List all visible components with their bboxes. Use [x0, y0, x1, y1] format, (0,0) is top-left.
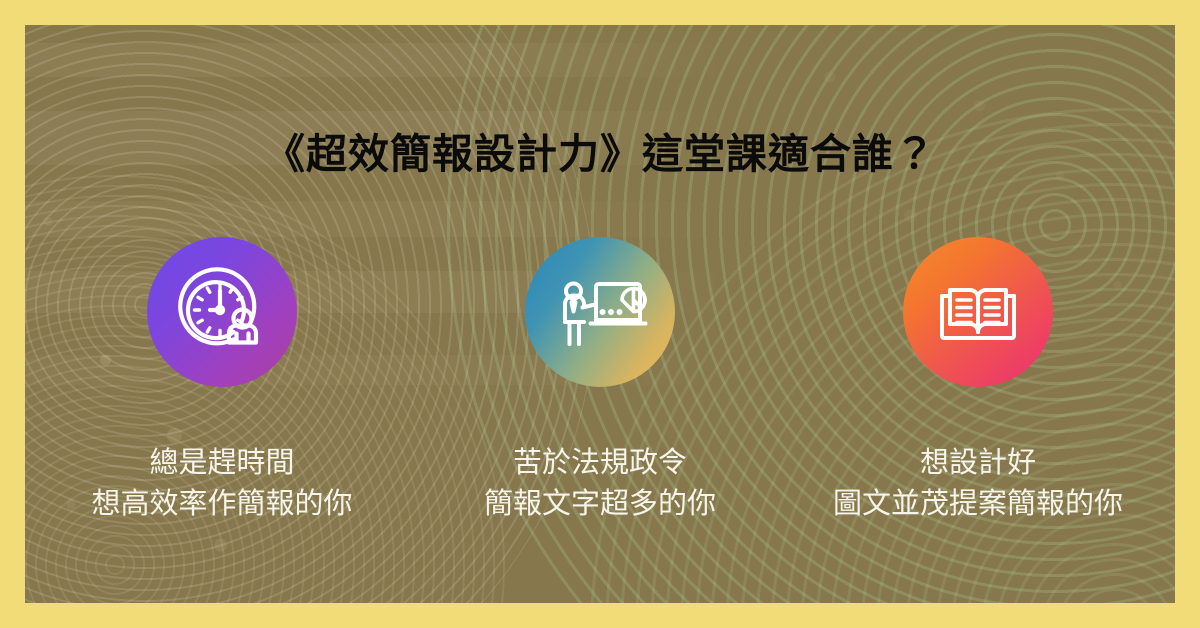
slide-title: 《超效簡報設計力》這堂課適合誰？	[25, 130, 1175, 179]
slide-canvas: 《超效簡報設計力》這堂課適合誰？	[25, 25, 1175, 603]
feature-column-1: 總是趕時間 想高效率作簡報的你	[33, 237, 411, 525]
feature-caption-3-line-1: 想設計好	[833, 443, 1123, 484]
presenter-chart-board-icon	[525, 237, 675, 387]
feature-column-3: 想設計好 圖文並茂提案簡報的你	[789, 237, 1167, 525]
feature-caption-3: 想設計好 圖文並茂提案簡報的你	[833, 443, 1123, 525]
feature-caption-3-line-2: 圖文並茂提案簡報的你	[833, 484, 1123, 525]
feature-caption-2-line-2: 簡報文字超多的你	[484, 484, 716, 525]
feature-caption-1-line-2: 想高效率作簡報的你	[91, 484, 352, 525]
feature-column-2: 苦於法規政令 簡報文字超多的你	[411, 237, 789, 525]
feature-caption-2-line-1: 苦於法規政令	[484, 443, 716, 484]
feature-columns: 總是趕時間 想高效率作簡報的你	[25, 237, 1175, 525]
slide-frame: 《超效簡報設計力》這堂課適合誰？	[0, 0, 1200, 628]
feature-caption-2: 苦於法規政令 簡報文字超多的你	[484, 443, 716, 525]
feature-caption-1: 總是趕時間 想高效率作簡報的你	[91, 443, 352, 525]
feature-caption-1-line-1: 總是趕時間	[91, 443, 352, 484]
open-book-icon	[903, 237, 1053, 387]
clock-person-icon	[147, 237, 297, 387]
